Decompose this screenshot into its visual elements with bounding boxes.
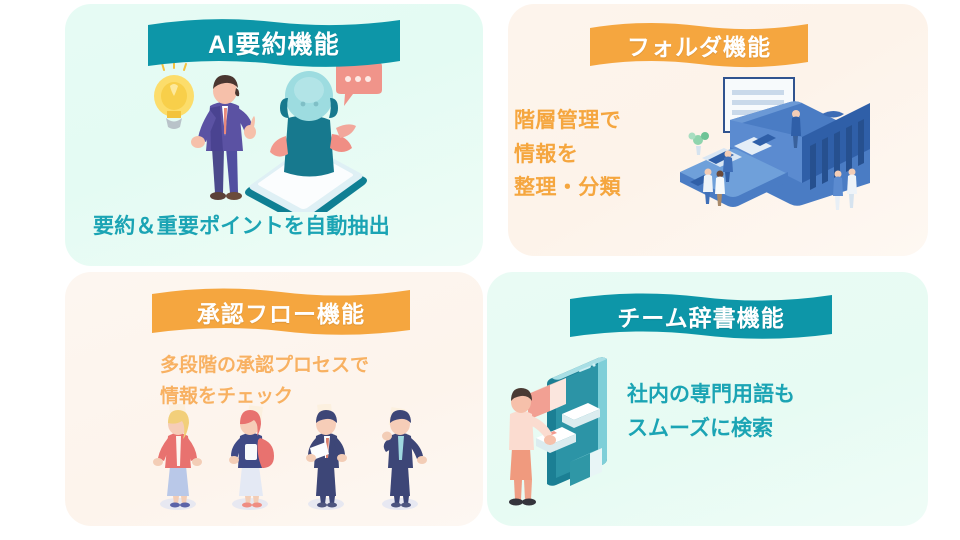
panel-title-dict: チーム辞書機能	[617, 299, 785, 333]
panel-caption-dict: 社内の専門用語も スムーズに検索	[627, 378, 887, 445]
illustration-approval-flow	[148, 404, 438, 516]
panel-caption-ai: 要約＆重要ポイントを自動抽出	[0, 212, 483, 242]
panel-caption-approval: 多段階の承認プロセスで 情報をチェック	[160, 350, 460, 413]
ribbon-folder: フォルダ機能	[590, 22, 808, 68]
panel-title-folder: フォルダ機能	[627, 28, 771, 62]
ribbon-approval-flow: 承認フロー機能	[152, 288, 410, 336]
infographic-canvas: AI要約機能 要約＆重要ポイントを自動抽出	[0, 0, 960, 540]
panel-title-ai: AI要約機能	[208, 25, 340, 61]
ribbon-team-dictionary: チーム辞書機能	[570, 292, 832, 340]
illustration-ai-summary	[140, 62, 390, 212]
panel-caption-folder: 階層管理で 情報を 整理・分類	[514, 104, 714, 205]
illustration-team-dictionary	[498, 352, 638, 520]
panel-title-approval: 承認フロー機能	[197, 295, 365, 329]
ribbon-ai-summary: AI要約機能	[148, 18, 400, 68]
